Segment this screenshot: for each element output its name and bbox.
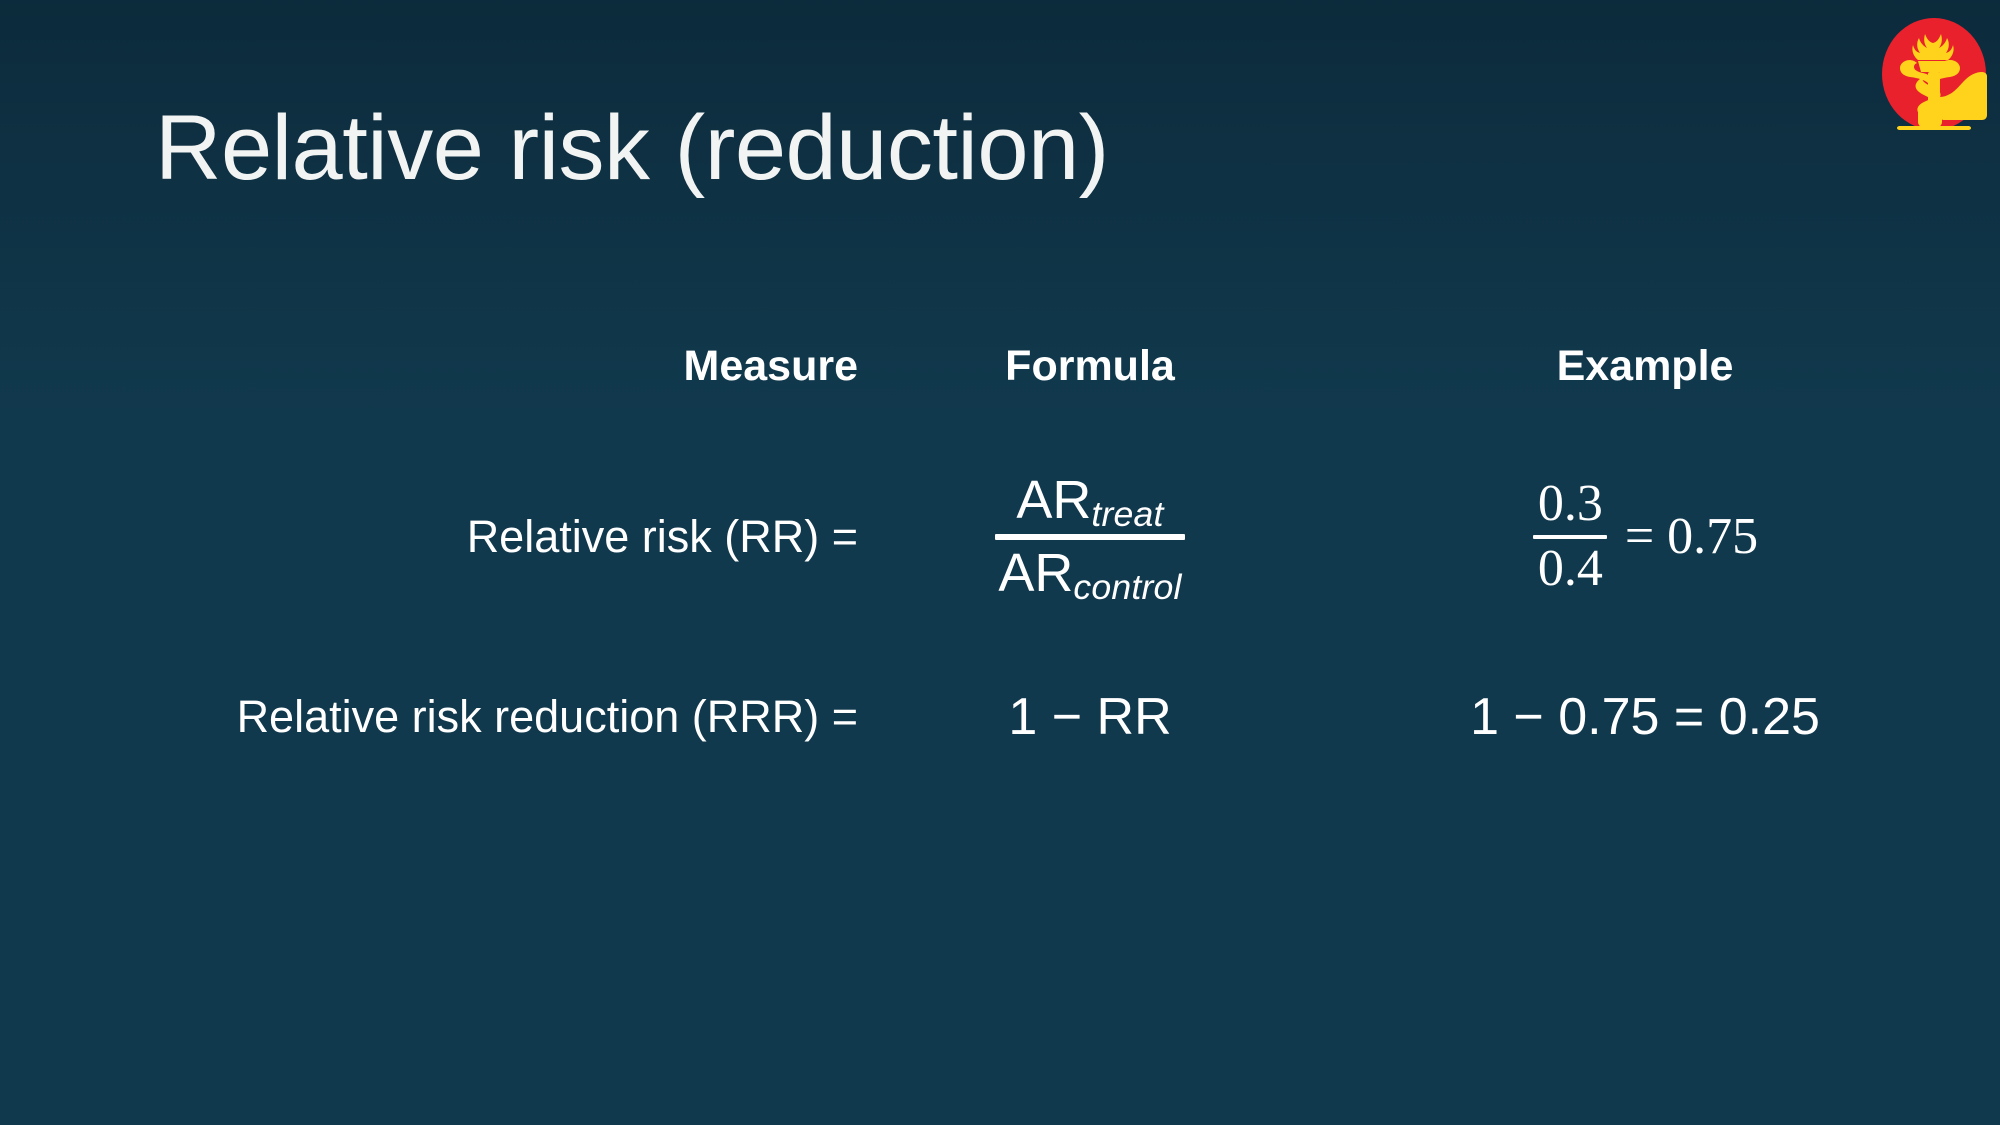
example-fraction: 0.3 0.4 — [1532, 477, 1609, 596]
fraction-denominator: ARcontrol — [992, 545, 1187, 602]
row-2-formula-cell: 1 − RR — [880, 687, 1300, 747]
medical-torch-serpent-emblem-icon — [1870, 16, 1998, 133]
example-result: = 0.75 — [1609, 511, 1758, 563]
fraction-bar — [995, 534, 1185, 540]
relative-risk-fraction: ARtreat ARcontrol — [992, 472, 1187, 601]
row-1-example-cell: 0.3 0.4 = 0.75 — [1300, 477, 1990, 596]
example-denominator: 0.4 — [1532, 542, 1609, 597]
row-1-measure-label: Relative risk (RR) = — [467, 511, 858, 562]
numerator-subscript: treat — [1091, 494, 1163, 534]
relative-risk-example-equation: 0.3 0.4 = 0.75 — [1532, 477, 1758, 596]
relative-risk-reduction-formula: 1 − RR — [1008, 688, 1171, 746]
header-cell-measure-wrap: Measure — [0, 342, 880, 391]
row-1-formula-cell: ARtreat ARcontrol — [880, 472, 1300, 601]
table-row: Relative risk (RR) = ARtreat ARcontrol 0… — [0, 412, 2000, 662]
example-fraction-bar — [1533, 535, 1607, 539]
slide-canvas: Relative risk (reduction) — [0, 0, 2000, 1125]
example-numerator: 0.3 — [1532, 477, 1609, 532]
column-header-measure: Measure — [684, 342, 858, 390]
page-title: Relative risk (reduction) — [155, 96, 1109, 201]
table-row: Relative risk reduction (RRR) = 1 − RR 1… — [0, 662, 2000, 772]
row-2-measure-cell: Relative risk reduction (RRR) = — [0, 691, 880, 743]
row-1-measure-cell: Relative risk (RR) = — [0, 511, 880, 563]
denominator-subscript: control — [1073, 567, 1181, 607]
relative-risk-reduction-example: 1 − 0.75 = 0.25 — [1470, 688, 1820, 746]
denominator-base: AR — [998, 543, 1073, 603]
table-header-row: Measure Formula Example — [0, 320, 2000, 412]
fraction-numerator: ARtreat — [1010, 472, 1169, 529]
comparison-table: Measure Formula Example Relative risk (R… — [0, 320, 2000, 772]
header-cell-example-wrap: Example — [1300, 342, 1990, 391]
row-2-measure-label: Relative risk reduction (RRR) = — [237, 691, 858, 742]
numerator-base: AR — [1016, 470, 1091, 530]
header-cell-formula-wrap: Formula — [880, 342, 1300, 391]
column-header-formula: Formula — [1005, 342, 1175, 390]
column-header-example: Example — [1557, 342, 1734, 390]
row-2-example-cell: 1 − 0.75 = 0.25 — [1300, 687, 1990, 747]
